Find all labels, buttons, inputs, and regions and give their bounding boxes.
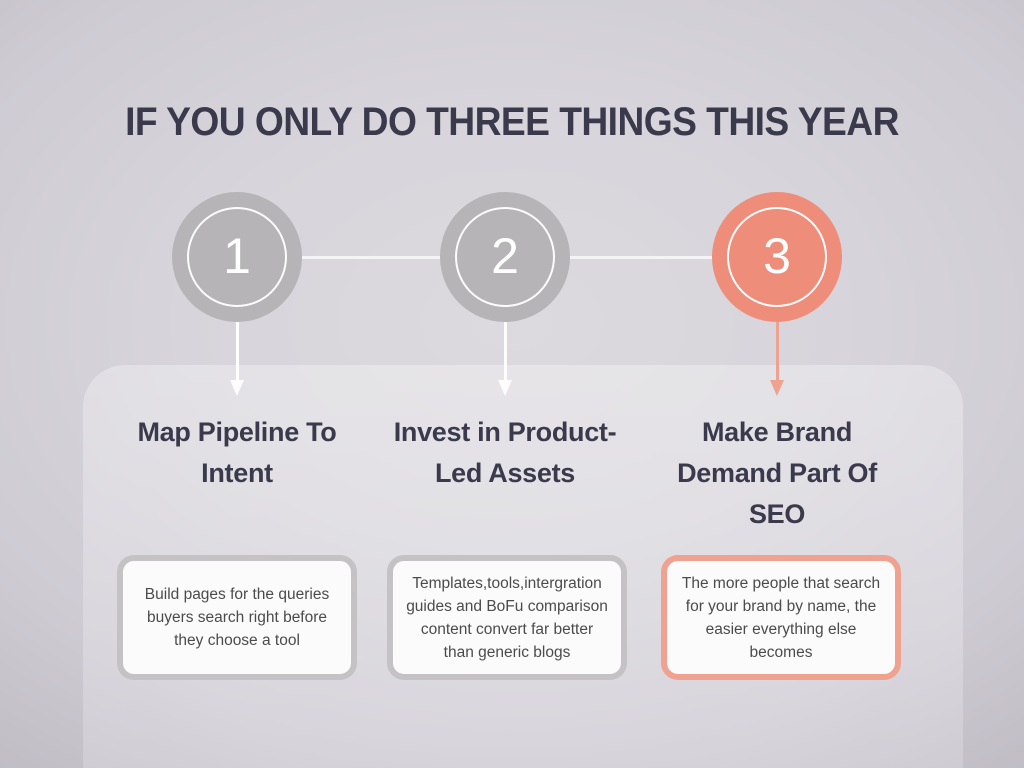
arrow-head-2	[498, 380, 512, 396]
step-circle-1[interactable]: 1	[172, 192, 302, 322]
step-heading-1: Map Pipeline To Intent	[112, 412, 362, 494]
step-description-1: Build pages for the queries buyers searc…	[136, 583, 338, 652]
arrow-head-1	[230, 380, 244, 396]
step-description-2: Templates,tools,intergration guides and …	[406, 572, 608, 664]
arrow-shaft-1	[236, 322, 239, 384]
step-number-2: 2	[440, 192, 570, 322]
step-card-1: Build pages for the queries buyers searc…	[117, 555, 357, 680]
step-number-3: 3	[712, 192, 842, 322]
infographic-canvas: IF YOU ONLY DO THREE THINGS THIS YEAR 1 …	[0, 0, 1024, 768]
step-number-1: 1	[172, 192, 302, 322]
arrow-shaft-3	[776, 322, 779, 384]
step-card-2: Templates,tools,intergration guides and …	[387, 555, 627, 680]
step-circle-3[interactable]: 3	[712, 192, 842, 322]
step-circle-2[interactable]: 2	[440, 192, 570, 322]
page-title: IF YOU ONLY DO THREE THINGS THIS YEAR	[36, 100, 988, 145]
arrow-head-3	[770, 380, 784, 396]
step-card-3: The more people that search for your bra…	[661, 555, 901, 680]
step-heading-2: Invest in Product-Led Assets	[380, 412, 630, 494]
step-description-3: The more people that search for your bra…	[680, 572, 882, 664]
arrow-shaft-2	[504, 322, 507, 384]
step-heading-3: Make Brand Demand Part Of SEO	[652, 412, 902, 535]
